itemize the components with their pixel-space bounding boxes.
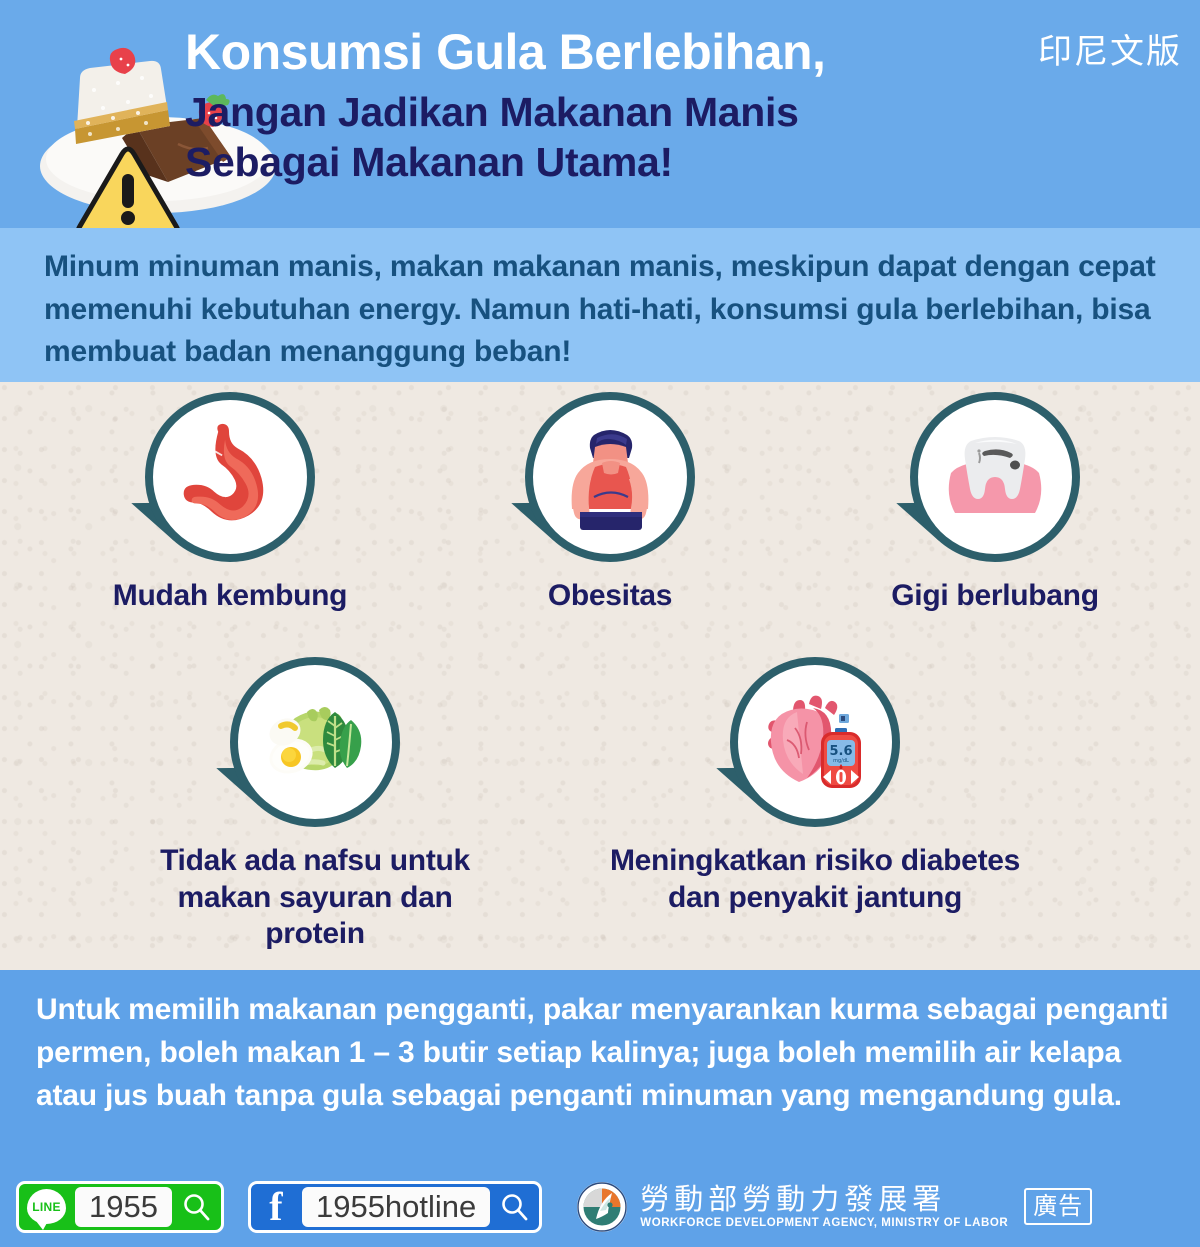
advice-text: Untuk memilih makanan pengganti, pakar m…: [36, 988, 1170, 1118]
svg-text:mg/dL: mg/dL: [833, 758, 849, 764]
bubble-tooth: [910, 392, 1080, 562]
search-icon[interactable]: [499, 1192, 529, 1222]
effect-item-obesity: Obesitas: [470, 392, 750, 615]
effect-caption: Obesitas: [470, 578, 750, 615]
language-badge: 印尼文版: [1038, 24, 1182, 73]
intro-text: Minum minuman manis, makan makanan manis…: [44, 246, 1168, 374]
effect-caption: Mudah kembung: [90, 578, 370, 615]
obese-person-icon: [550, 417, 670, 537]
poster-title-primary: Konsumsi Gula Berlebihan,: [185, 24, 1015, 80]
bubble-stomach: [145, 392, 315, 562]
effect-item-diabetes-heart: 5.6 mg/dL Meningkatkan risiko diabetes d…: [585, 657, 1045, 916]
svg-text:5.6: 5.6: [829, 744, 852, 759]
agency-seal-icon: [576, 1181, 628, 1233]
effects-row-2: Tidak ada nafsu untuk makan sayuran dan …: [0, 657, 1200, 947]
infographic-poster: Konsumsi Gula Berlebihan, Jangan Jadikan…: [0, 0, 1200, 1247]
poster-header: Konsumsi Gula Berlebihan, Jangan Jadikan…: [0, 0, 1200, 228]
poster-title-secondary: Jangan Jadikan Makanan Manis: [185, 87, 1015, 137]
line-icon-label: LINE: [32, 1200, 61, 1214]
facebook-handle: 1955hotline: [302, 1187, 490, 1227]
advice-band: Untuk memilih makanan pengganti, pakar m…: [0, 970, 1200, 1166]
intro-band: Minum minuman manis, makan makanan manis…: [0, 228, 1200, 382]
poster-footer: LINE 1955 f 1955hotline: [0, 1166, 1200, 1247]
bubble-heart-glucometer: 5.6 mg/dL: [730, 657, 900, 827]
effect-item-bloating: Mudah kembung: [90, 392, 370, 615]
effects-row-1: Mudah kembung: [0, 392, 1200, 652]
decayed-tooth-icon: [935, 417, 1055, 537]
line-app-icon: LINE: [27, 1189, 66, 1224]
search-icon[interactable]: [181, 1192, 211, 1222]
stomach-icon: [171, 418, 289, 536]
agency-name-zh: 勞動部勞動力發展署: [640, 1184, 1008, 1215]
effect-item-cavity: Gigi berlubang: [845, 392, 1145, 615]
effect-caption: Meningkatkan risiko diabetes dan penyaki…: [585, 843, 1045, 916]
facebook-contact-pill[interactable]: f 1955hotline: [248, 1181, 542, 1233]
effect-caption: Gigi berlubang: [845, 578, 1145, 615]
effect-item-no-appetite: Tidak ada nafsu untuk makan sayuran dan …: [155, 657, 475, 953]
line-contact-pill[interactable]: LINE 1955: [16, 1181, 224, 1233]
advertisement-badge: 廣告: [1024, 1188, 1092, 1226]
agency-name-en: WORKFORCE DEVELOPMENT AGENCY, MINISTRY O…: [640, 1217, 1008, 1229]
vegetables-egg-icon: [255, 682, 375, 802]
bubble-obesity: [525, 392, 695, 562]
facebook-icon: f: [259, 1186, 293, 1228]
bubble-vegetables: [230, 657, 400, 827]
agency-branding: 勞動部勞動力發展署 WORKFORCE DEVELOPMENT AGENCY, …: [576, 1181, 1008, 1233]
heart-glucometer-icon: 5.6 mg/dL: [755, 682, 875, 802]
poster-title-tertiary: Sebagai Makanan Utama!: [185, 137, 1015, 187]
effect-caption: Tidak ada nafsu untuk makan sayuran dan …: [155, 843, 475, 953]
title-block: Konsumsi Gula Berlebihan, Jangan Jadikan…: [185, 24, 1015, 187]
effects-section: Mudah kembung: [0, 382, 1200, 970]
line-handle: 1955: [75, 1187, 172, 1227]
